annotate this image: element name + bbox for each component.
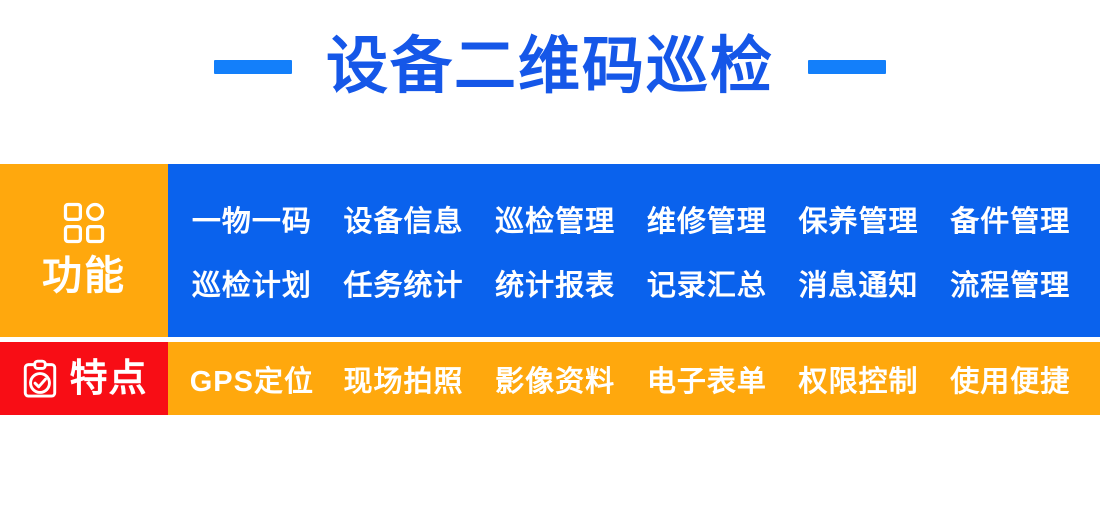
function-sidebar-label: 功能 <box>42 256 126 296</box>
clipboard-check-icon <box>20 359 60 399</box>
feature-item-easy-to-use[interactable]: 使用便捷 <box>934 358 1086 400</box>
function-item-process-management[interactable]: 流程管理 <box>934 262 1086 304</box>
feature-item-gps-location[interactable]: GPS定位 <box>176 358 328 400</box>
title-dash-left-icon <box>214 60 292 74</box>
function-item-equipment-info[interactable]: 设备信息 <box>328 198 480 240</box>
function-item-inspection-plan[interactable]: 巡检计划 <box>176 262 328 304</box>
function-row: 一物一码 设备信息 巡检管理 维修管理 保养管理 备件管理 <box>176 187 1086 251</box>
feature-sidebar: 特点 <box>0 342 168 415</box>
function-item-message-notification[interactable]: 消息通知 <box>783 262 935 304</box>
feature-item-electronic-form[interactable]: 电子表单 <box>631 358 783 400</box>
function-item-statistical-report[interactable]: 统计报表 <box>479 262 631 304</box>
grid-squares-circle-icon <box>63 202 105 244</box>
feature-item-onsite-photo[interactable]: 现场拍照 <box>328 358 480 400</box>
function-item-inspection-management[interactable]: 巡检管理 <box>479 198 631 240</box>
feature-section: 特点 GPS定位 现场拍照 影像资料 电子表单 权限控制 使用便捷 <box>0 342 1100 415</box>
feature-items-panel: GPS定位 现场拍照 影像资料 电子表单 权限控制 使用便捷 <box>168 342 1100 415</box>
page-title: 设备二维码巡检 <box>326 36 774 98</box>
function-items-panel: 一物一码 设备信息 巡检管理 维修管理 保养管理 备件管理 巡检计划 任务统计 … <box>168 164 1100 337</box>
function-item-maintenance-management[interactable]: 保养管理 <box>783 198 935 240</box>
feature-sidebar-label: 特点 <box>69 360 147 398</box>
function-section: 功能 一物一码 设备信息 巡检管理 维修管理 保养管理 备件管理 巡检计划 任务… <box>0 164 1100 337</box>
function-item-record-summary[interactable]: 记录汇总 <box>631 262 783 304</box>
function-item-repair-management[interactable]: 维修管理 <box>631 198 783 240</box>
feature-item-permission-control[interactable]: 权限控制 <box>783 358 935 400</box>
page-title-banner: 设备二维码巡检 <box>0 0 1100 164</box>
function-sidebar: 功能 <box>0 164 168 337</box>
function-row: 巡检计划 任务统计 统计报表 记录汇总 消息通知 流程管理 <box>176 251 1086 315</box>
bottom-whitespace <box>0 415 1100 513</box>
function-item-one-object-one-code[interactable]: 一物一码 <box>176 198 328 240</box>
function-item-spare-parts-management[interactable]: 备件管理 <box>934 198 1086 240</box>
function-item-task-statistics[interactable]: 任务统计 <box>328 262 480 304</box>
title-dash-right-icon <box>808 60 886 74</box>
feature-item-image-material[interactable]: 影像资料 <box>479 358 631 400</box>
